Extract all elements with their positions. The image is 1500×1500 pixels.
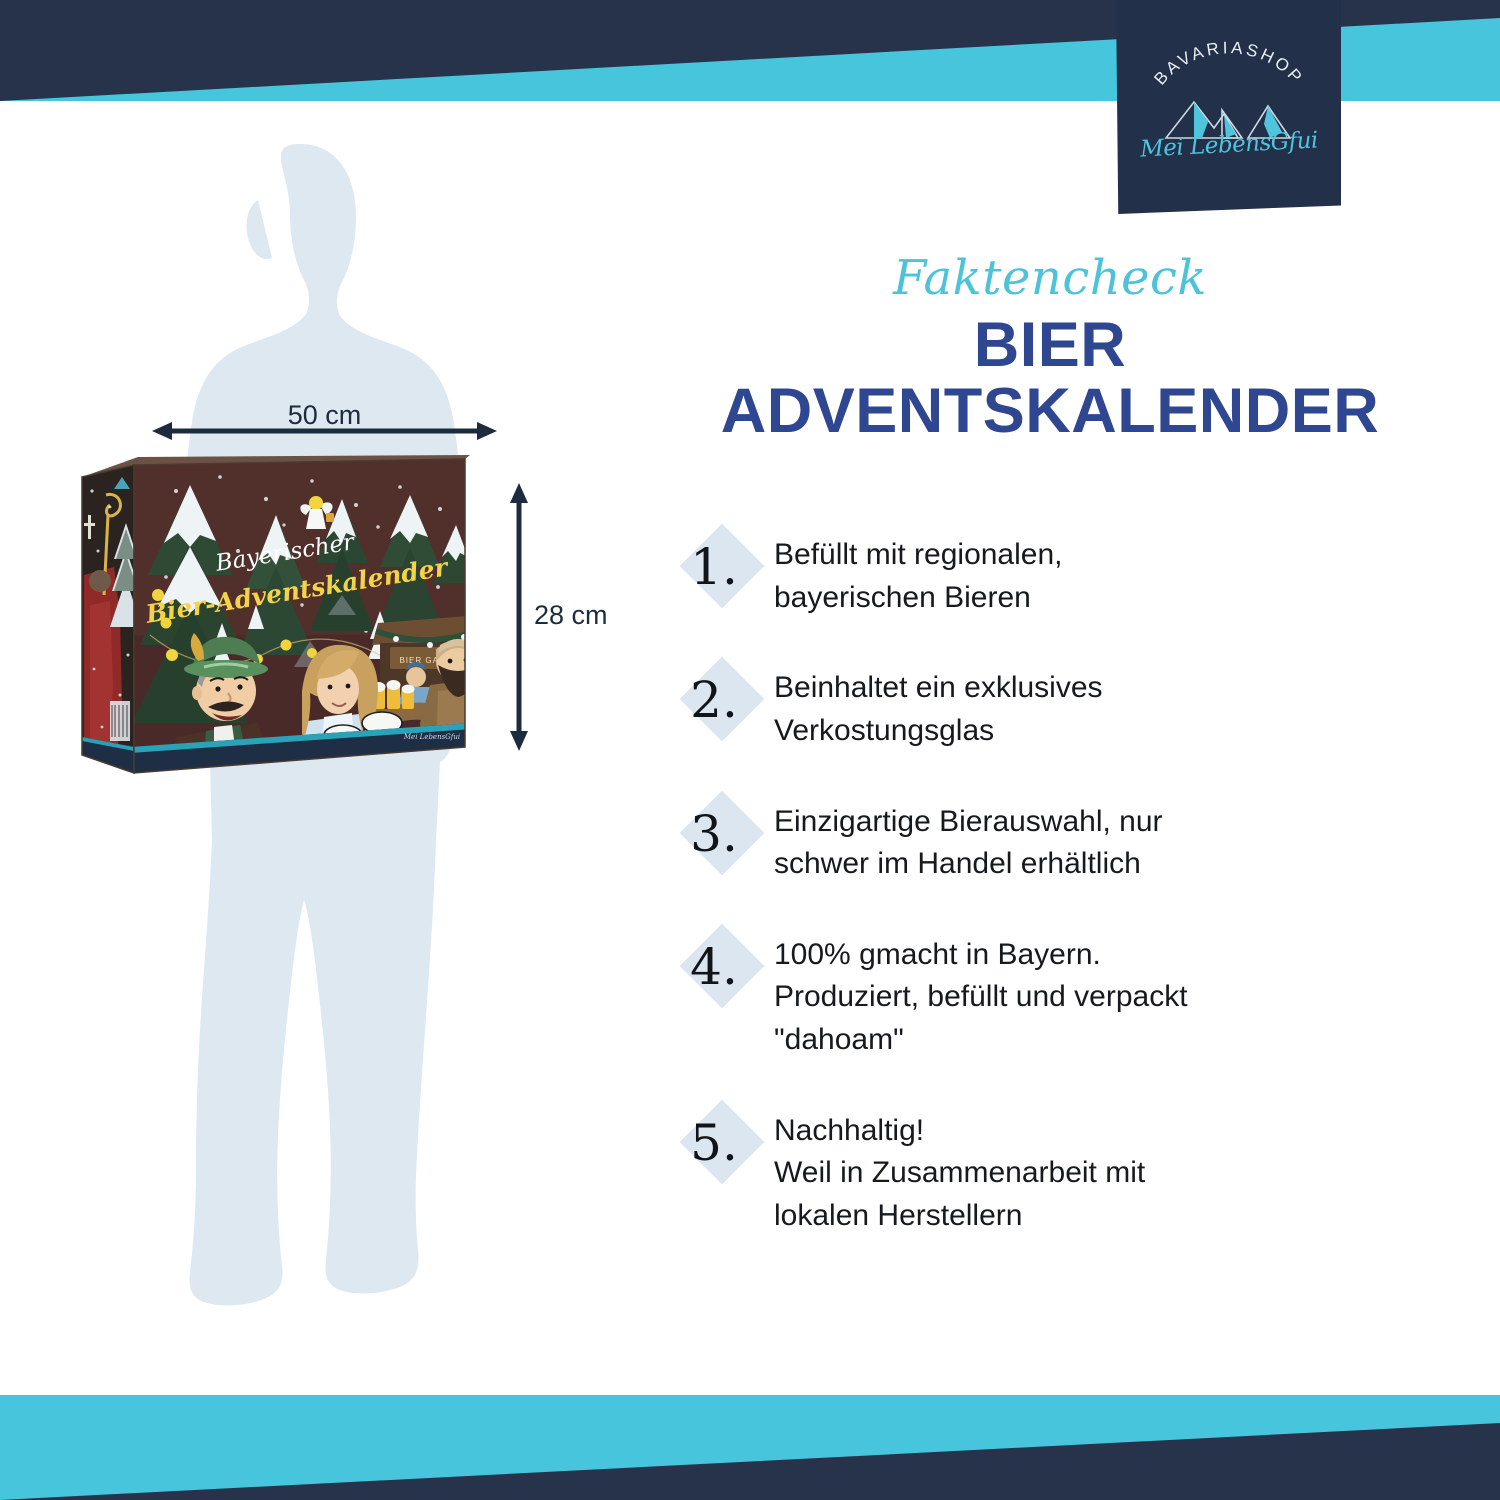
page-title: BIER ADVENTSKALENDER [660,312,1440,444]
list-item: 4. 100% gmacht in Bayern. Produziert, be… [678,928,1440,1062]
product-visual-column: 50 cm 28 cm [0,0,660,1500]
fact-line: 100% gmacht in Bayern. [774,934,1188,977]
eyebrow-heading: Faktencheck [660,250,1440,306]
page-title-line2: ADVENTSKALENDER [721,376,1380,446]
fact-line: bayerischen Bieren [774,577,1063,620]
product-box-image: Bayerischer Bier-Adventskalender BIER GA… [80,455,498,800]
fact-number: 5. [686,1118,742,1168]
box-footer-url: bavariashop.de [192,769,230,775]
fact-line: Verkostungsglas [774,710,1103,753]
fact-number-badge: 1. [678,528,764,614]
brand-logo-badge[interactable]: BAVARIASHOP Mei LebensGfui [1116,0,1341,214]
logo-script-label: Mei LebensGfui [1133,127,1324,163]
logo-arc-label: BAVARIASHOP [1150,38,1307,88]
list-item: 2. Beinhaltet ein exklusives Verkostungs… [678,661,1440,752]
fact-text: Einzigartige Bierauswahl, nur schwer im … [774,795,1163,886]
fact-line: Nachhaltig! [774,1110,1145,1153]
logo-inner: BAVARIASHOP Mei LebensGfui [1134,32,1324,182]
fact-number-badge: 4. [678,928,764,1014]
fact-line: Weil in Zusammenarbeit mit [774,1152,1145,1195]
fact-number: 3. [686,809,742,859]
width-dimension-arrow [152,418,497,444]
fact-number-badge: 3. [678,795,764,881]
height-dimension-arrow [506,483,532,751]
fact-line: Befüllt mit regionalen, [774,534,1063,577]
list-item: 3. Einzigartige Bierauswahl, nur schwer … [678,795,1440,886]
facts-list: 1. Befüllt mit regionalen, bayerischen B… [660,528,1440,1237]
fact-line: schwer im Handel erhältlich [774,843,1163,886]
fact-line: "dahoam" [774,1019,1188,1062]
fact-number-badge: 5. [678,1104,764,1190]
fact-text: Befüllt mit regionalen, bayerischen Bier… [774,528,1063,619]
facts-column: Faktencheck BIER ADVENTSKALENDER 1. Befü… [660,250,1440,1279]
list-item: 1. Befüllt mit regionalen, bayerischen B… [678,528,1440,619]
svg-text:BAVARIASHOP: BAVARIASHOP [1150,38,1307,88]
fact-text: Nachhaltig! Weil in Zusammenarbeit mit l… [774,1104,1145,1238]
list-item: 5. Nachhaltig! Weil in Zusammenarbeit mi… [678,1104,1440,1238]
fact-number: 1. [686,542,742,592]
fact-number-badge: 2. [678,661,764,747]
fact-line: Beinhaltet ein exklusives [774,667,1103,710]
fact-line: lokalen Herstellern [774,1195,1145,1238]
infographic-page: BAVARIASHOP Mei LebensGfui 50 cm [0,0,1500,1500]
fact-number: 2. [686,675,742,725]
fact-line: Einzigartige Bierauswahl, nur [774,801,1163,844]
fact-number: 4. [686,942,742,992]
box-footer-script: Mei LebensGfui [403,733,460,741]
fact-text: Beinhaltet ein exklusives Verkostungsgla… [774,661,1103,752]
fact-line: Produziert, befüllt und verpackt [774,976,1188,1019]
height-dimension-label: 28 cm [534,600,608,631]
page-title-line1: BIER [974,310,1127,380]
fact-text: 100% gmacht in Bayern. Produziert, befül… [774,928,1188,1062]
